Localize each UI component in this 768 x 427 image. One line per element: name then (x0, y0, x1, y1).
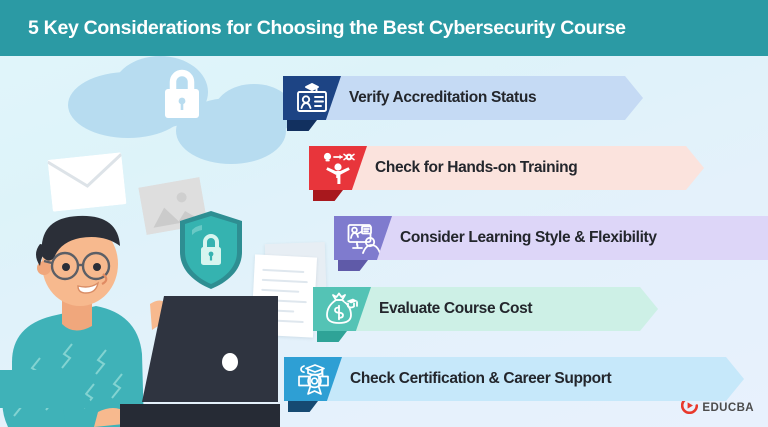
icon-tab-tail (287, 120, 317, 131)
laptop-icon (120, 292, 280, 427)
illustration (0, 56, 300, 427)
item-bar[interactable]: Evaluate Course Cost (353, 287, 658, 331)
list-item-label: Check for Hands-on Training (349, 159, 577, 177)
educba-wordmark: EDUCBA (702, 402, 754, 414)
keyboard-icon (0, 356, 96, 427)
item-bar[interactable]: Check for Hands-on Training (349, 146, 704, 190)
infographic-canvas: 5 Key Considerations for Choosing the Be… (0, 0, 768, 427)
icon-tab-tail (313, 190, 343, 201)
cloud-right-lobe-icon (214, 84, 294, 140)
item-bar[interactable]: Verify Accreditation Status (323, 76, 643, 120)
list-item-label: Check Certification & Career Support (324, 370, 611, 388)
icon-tab-tail (288, 401, 318, 412)
list-item-label: Consider Learning Style & Flexibility (374, 229, 657, 247)
padlock-white-icon (160, 66, 204, 124)
item-bar[interactable]: Check Certification & Career Support (324, 357, 744, 401)
list-item-label: Evaluate Course Cost (353, 300, 532, 318)
page-title: 5 Key Considerations for Choosing the Be… (0, 17, 626, 40)
icon-tab-tail (338, 260, 368, 271)
item-bar[interactable]: Consider Learning Style & Flexibility (374, 216, 768, 260)
icon-tab-tail (317, 331, 347, 342)
list-item-label: Verify Accreditation Status (323, 89, 536, 107)
header-bar: 5 Key Considerations for Choosing the Be… (0, 0, 768, 56)
